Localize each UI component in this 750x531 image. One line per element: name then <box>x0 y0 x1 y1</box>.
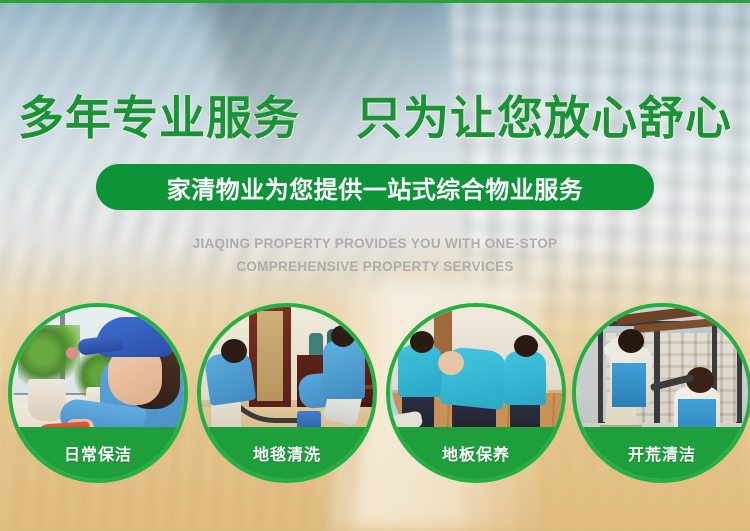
worker-left-apron <box>612 363 646 407</box>
headline-part-2: 只为让您放心舒心 <box>356 91 732 145</box>
worker-c-body <box>504 351 546 405</box>
worker-c-head <box>514 335 538 357</box>
service-circle-carpet-washing[interactable]: 地毯清洗 <box>197 303 377 483</box>
promo-banner: 多年专业服务 只为让您放心舒心 家清物业为您提供一站式综合物业服务 JIAQIN… <box>0 0 750 531</box>
service-label: 地毯清洗 <box>253 441 321 465</box>
service-caption-band: 地毯清洗 <box>201 427 373 479</box>
service-caption-band: 地板保养 <box>390 427 562 479</box>
worker-left-head <box>618 329 644 353</box>
headline-part-1: 多年专业服务 <box>18 91 300 145</box>
worker-right-head <box>331 325 355 347</box>
service-caption-band: 开荒清洁 <box>576 427 748 479</box>
english-subtitle-line-2: COMPREHENSIVE PROPERTY SERVICES <box>0 255 750 278</box>
service-circle-post-renovation-cleaning[interactable]: 开荒清洁 <box>572 303 750 483</box>
service-caption-band: 日常保洁 <box>12 427 184 479</box>
worker-right-body <box>323 341 365 399</box>
subtitle-pill: 家清物业为您提供一站式综合物业服务 <box>96 164 654 210</box>
english-subtitle: JIAQING PROPERTY PROVIDES YOU WITH ONE-S… <box>0 232 750 278</box>
service-label: 日常保洁 <box>64 441 132 465</box>
window-mullion-1 <box>654 321 660 427</box>
worker-left-head <box>221 339 247 363</box>
headline: 多年专业服务 只为让您放心舒心 <box>0 82 750 148</box>
service-label: 开荒清洁 <box>628 441 696 465</box>
service-circle-floor-maintenance[interactable]: 地板保养 <box>386 303 566 483</box>
english-subtitle-line-1: JIAQING PROPERTY PROVIDES YOU WITH ONE-S… <box>0 232 750 255</box>
top-rule <box>0 0 750 3</box>
service-label: 地板保养 <box>442 441 510 465</box>
service-circle-daily-cleaning[interactable]: 日常保洁 <box>8 303 188 483</box>
service-circle-row: 日常保洁 <box>0 303 750 493</box>
worker-a-head <box>410 331 434 353</box>
subtitle-pill-text: 家清物业为您提供一站式综合物业服务 <box>167 170 584 205</box>
